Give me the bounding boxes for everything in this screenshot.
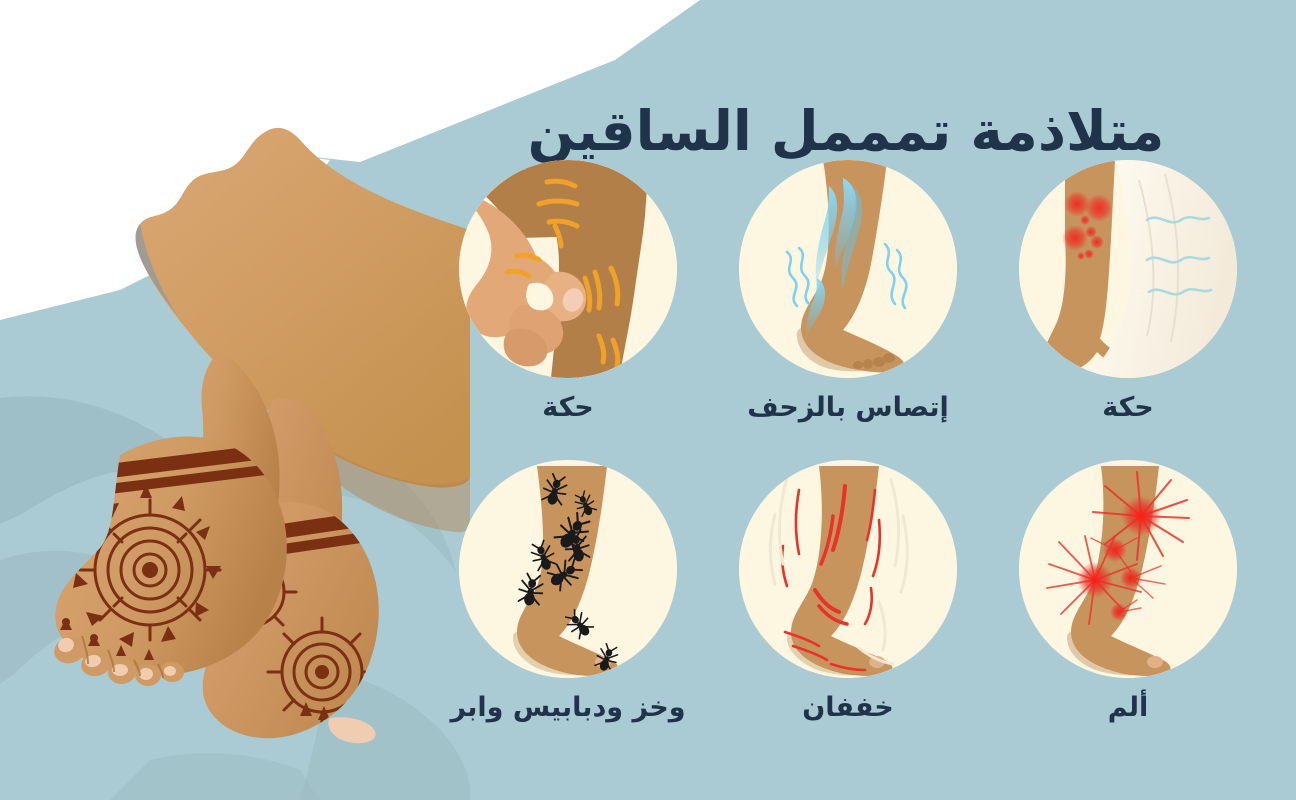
foot-insects-icon — [459, 460, 677, 678]
symptom-label: ألم — [1108, 692, 1149, 723]
toenail — [1147, 656, 1163, 668]
symptom-label: حكة — [1102, 392, 1154, 423]
symptom-label: حكة — [542, 392, 594, 423]
symptom-card-scratching[interactable]: حكة — [428, 160, 708, 460]
symptom-grid: حكة — [428, 160, 1268, 760]
symptom-label: وخز ودبابيس وابر — [450, 692, 685, 723]
page-title: متلاذمة تمممل الساقين — [436, 101, 1256, 163]
infographic-poster: متلاذمة تمممل الساقين — [0, 0, 1296, 800]
symptom-card-itching-rash[interactable]: حكة — [988, 160, 1268, 460]
symptom-card-crawling-sensation[interactable]: إتصاس بالزحف — [708, 160, 988, 460]
leg-blue-waves-icon — [739, 160, 957, 378]
hand-scratching-leg-icon — [459, 160, 677, 378]
henna-legs-illustration — [0, 0, 470, 800]
symptom-card-pain[interactable]: ألم — [988, 460, 1268, 760]
foot-throbbing-streaks-icon — [739, 460, 957, 678]
symptom-card-throbbing[interactable]: خففان — [708, 460, 988, 760]
leg-red-spots-icon — [1019, 160, 1237, 378]
symptom-card-pins-and-needles[interactable]: وخز ودبابيس وابر — [428, 460, 708, 760]
foot-pain-bursts-icon — [1019, 460, 1237, 678]
symptom-label: خففان — [802, 692, 894, 723]
symptom-label: إتصاس بالزحف — [747, 392, 949, 423]
